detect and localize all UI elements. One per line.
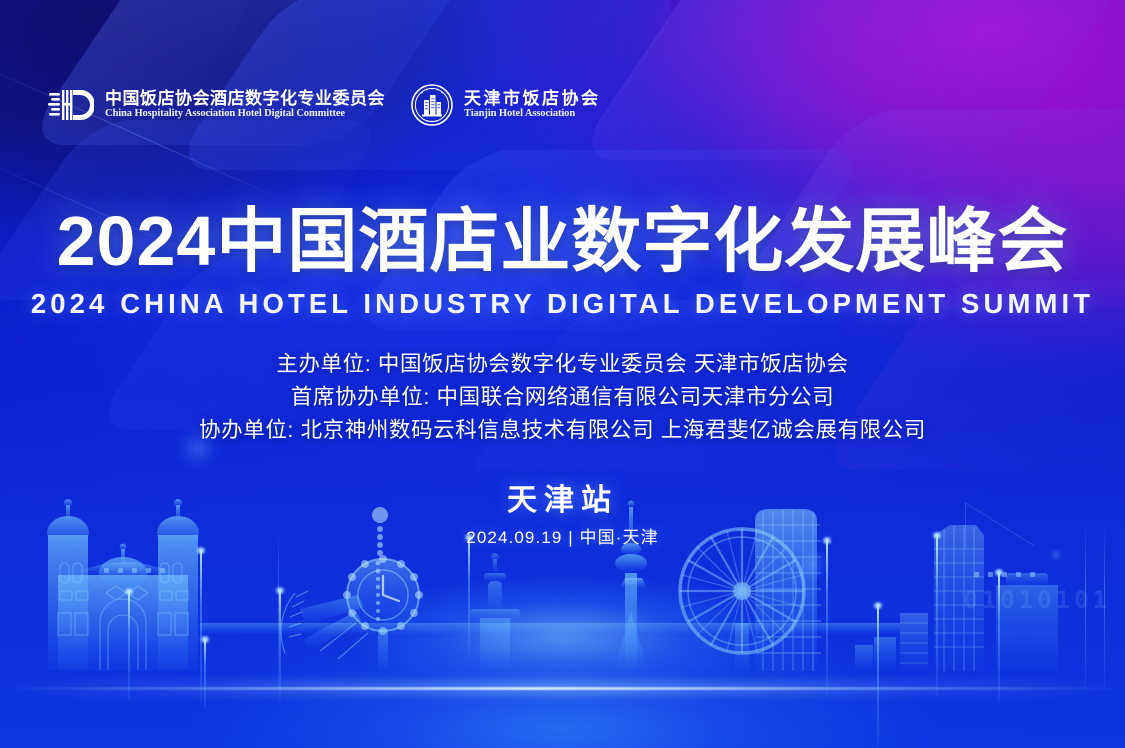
station-name: 天津站 [0, 486, 1125, 516]
logo-text-block: 中国饭店协会酒店数字化专业委员会 China Hospitality Assoc… [105, 90, 385, 120]
station-date-location: 2024.09.19 | 中国·天津 [0, 529, 1125, 546]
chd-monogram-icon [48, 85, 94, 125]
conference-banner: 01010101 中国饭店协会酒店数字化专业委 [0, 0, 1125, 748]
logo-name-en: Tianjin Hotel Association [464, 109, 601, 120]
logo-bar: 中国饭店协会酒店数字化专业委员会 China Hospitality Assoc… [48, 84, 601, 126]
horizon-bloom [253, 568, 873, 738]
organizer-line: 协办单位: 北京神州数码云科信息技术有限公司 上海君斐亿诚会展有限公司 [0, 414, 1125, 447]
logo-name-en: China Hospitality Association Hotel Digi… [105, 109, 385, 120]
light-streak [1104, 524, 1105, 690]
station-block: 天津站 2024.09.19 | 中国·天津 [0, 486, 1125, 546]
title-block: 2024中国酒店业数字化发展峰会 2024 CHINA HOTEL INDUST… [0, 206, 1125, 318]
horizon-line [0, 687, 1125, 690]
logo-name-cn: 中国饭店协会酒店数字化专业委员会 [105, 90, 385, 107]
logo-tianjin-hotel-association: 天津市饭店协会 Tianjin Hotel Association [411, 84, 601, 126]
page-title: 2024中国酒店业数字化发展峰会 [0, 206, 1125, 276]
organizer-line: 首席协办单位: 中国联合网络通信有限公司天津市分公司 [0, 381, 1125, 414]
binary-decoration: 01010101 [963, 586, 1111, 614]
orb-decoration [1049, 548, 1063, 562]
logo-text-block: 天津市饭店协会 Tianjin Hotel Association [464, 90, 601, 120]
organizer-line: 主办单位: 中国饭店协会数字化专业委员会 天津市饭店协会 [0, 348, 1125, 381]
logo-name-cn: 天津市饭店协会 [464, 90, 601, 107]
dot-row-decoration [104, 568, 165, 573]
page-subtitle: 2024 CHINA HOTEL INDUSTRY DIGITAL DEVELO… [0, 290, 1125, 318]
tianjin-seal-icon [411, 84, 453, 126]
dot-row-decoration [974, 572, 1035, 577]
logo-china-hospitality-association: 中国饭店协会酒店数字化专业委员会 China Hospitality Assoc… [48, 85, 385, 125]
organizer-list: 主办单位: 中国饭店协会数字化专业委员会 天津市饭店协会 首席协办单位: 中国联… [0, 348, 1125, 447]
